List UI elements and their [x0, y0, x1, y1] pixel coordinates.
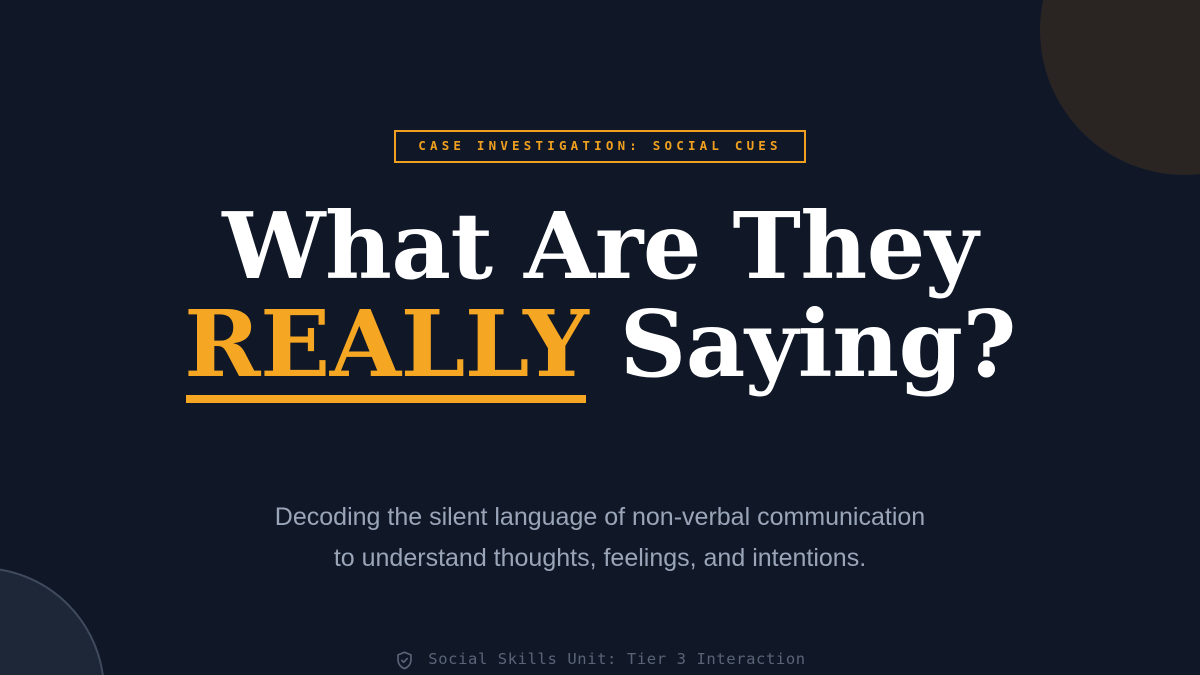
page-title: What Are They REALLY Saying?: [184, 197, 1016, 393]
title-line-1: What Are They: [184, 197, 1016, 295]
title-accent-underline: [186, 395, 586, 403]
slide-footer-label: Social Skills Unit: Tier 3 Interaction: [428, 652, 805, 668]
slide-content: CASE INVESTIGATION: SOCIAL CUES What Are…: [0, 0, 1200, 675]
title-line-2-rest: Saying?: [588, 290, 1016, 398]
slide-footer: Social Skills Unit: Tier 3 Interaction: [394, 650, 805, 671]
shield-check-icon: [394, 650, 415, 671]
title-line-2: REALLY Saying?: [184, 295, 1016, 393]
eyebrow-badge: CASE INVESTIGATION: SOCIAL CUES: [394, 130, 806, 163]
title-slide: CASE INVESTIGATION: SOCIAL CUES What Are…: [0, 0, 1200, 675]
title-accent-word: REALLY: [184, 295, 588, 393]
eyebrow-badge-label: CASE INVESTIGATION: SOCIAL CUES: [418, 140, 782, 153]
title-accent-text: REALLY: [184, 290, 588, 398]
slide-subtitle: Decoding the silent language of non-verb…: [270, 497, 930, 579]
